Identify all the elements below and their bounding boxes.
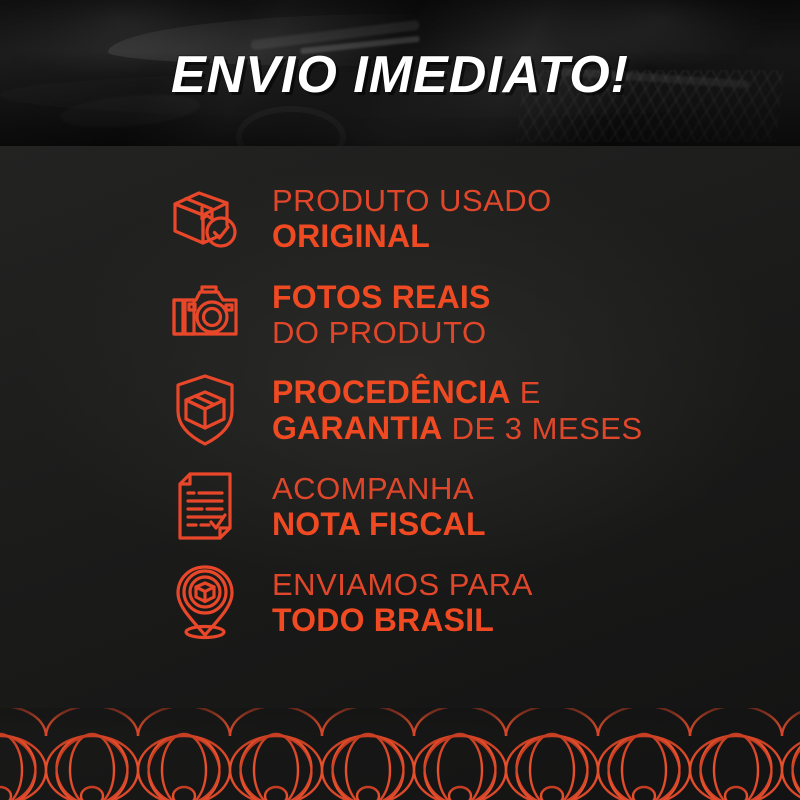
feature-row-todo-brasil: ENVIAMOS PARA TODO BRASIL xyxy=(0,554,800,650)
feature-text: ENVIAMOS PARA TODO BRASIL xyxy=(272,569,533,636)
camera-icon xyxy=(168,277,242,351)
feature-line-2: GARANTIA DE 3 MESES xyxy=(272,412,643,444)
feature-row-nota-fiscal: ACOMPANHA NOTA FISCAL xyxy=(0,458,800,554)
feature-line-2-bold: GARANTIA xyxy=(272,410,442,446)
promotional-banner: ENVIO IMEDIATO! PRODUTO USADO ORIGINAL xyxy=(0,0,800,800)
banner-title: ENVIO IMEDIATO! xyxy=(0,0,800,146)
feature-line-1: PROCEDÊNCIA E xyxy=(272,376,643,408)
feature-line-2: DO PRODUTO xyxy=(272,317,491,348)
feature-line-1: ACOMPANHA xyxy=(272,473,486,504)
feature-line-1: PRODUTO USADO xyxy=(272,185,552,216)
footer-ornament xyxy=(0,708,800,800)
hero-header: ENVIO IMEDIATO! xyxy=(0,0,800,146)
feature-row-produto-usado: PRODUTO USADO ORIGINAL xyxy=(0,170,800,266)
feature-line-2-thin: DE 3 MESES xyxy=(442,411,642,446)
feature-line-2: NOTA FISCAL xyxy=(272,508,486,540)
box-check-icon xyxy=(168,181,242,255)
invoice-document-icon xyxy=(168,469,242,543)
feature-text: ACOMPANHA NOTA FISCAL xyxy=(272,473,486,540)
feature-text: PROCEDÊNCIA E GARANTIA DE 3 MESES xyxy=(272,376,643,444)
feature-text: FOTOS REAIS DO PRODUTO xyxy=(272,281,491,348)
map-pin-box-icon xyxy=(168,565,242,639)
feature-list: PRODUTO USADO ORIGINAL FOTOS REAIS xyxy=(0,170,800,650)
feature-row-fotos-reais: FOTOS REAIS DO PRODUTO xyxy=(0,266,800,362)
feature-line-1: FOTOS REAIS xyxy=(272,281,491,313)
feature-line-1: ENVIAMOS PARA xyxy=(272,569,533,600)
feature-line-1-thin: E xyxy=(511,375,541,410)
feature-line-2: ORIGINAL xyxy=(272,220,552,252)
feature-row-procedencia-garantia: PROCEDÊNCIA E GARANTIA DE 3 MESES xyxy=(0,362,800,458)
shield-box-icon xyxy=(168,373,242,447)
feature-line-2: TODO BRASIL xyxy=(272,604,533,636)
feature-text: PRODUTO USADO ORIGINAL xyxy=(272,185,552,252)
feature-line-1-bold: PROCEDÊNCIA xyxy=(272,374,511,410)
